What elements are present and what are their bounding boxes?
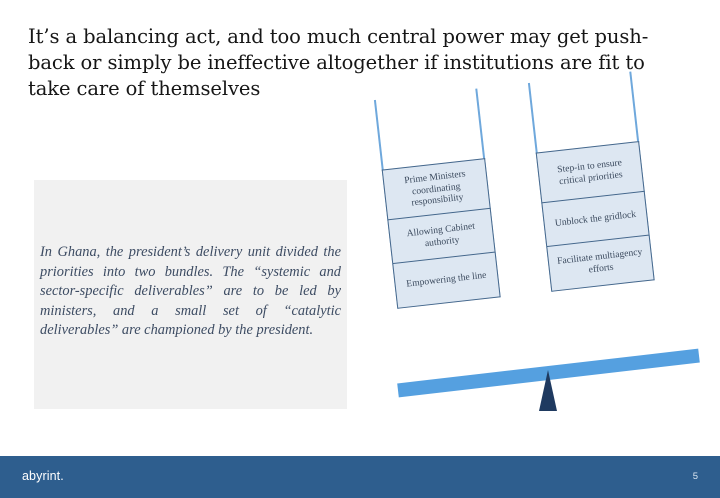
page-title: It’s a balancing act, and too much centr… xyxy=(28,24,692,102)
footer-brand-logo: abyrint. xyxy=(22,469,64,483)
left-stack: Prime Ministers coordinating responsibil… xyxy=(382,158,501,309)
fulcrum-triangle-icon xyxy=(539,370,557,411)
seesaw-diagram: Prime Ministers coordinating responsibil… xyxy=(375,118,715,418)
footer-page-number: 5 xyxy=(693,471,698,482)
footer-bar: abyrint. 5 xyxy=(0,456,720,498)
slide-canvas: It’s a balancing act, and too much centr… xyxy=(0,0,720,498)
right-stack: Step-in to ensure critical priorities Un… xyxy=(536,141,655,292)
quote-text: In Ghana, the president’s delivery unit … xyxy=(40,243,341,341)
